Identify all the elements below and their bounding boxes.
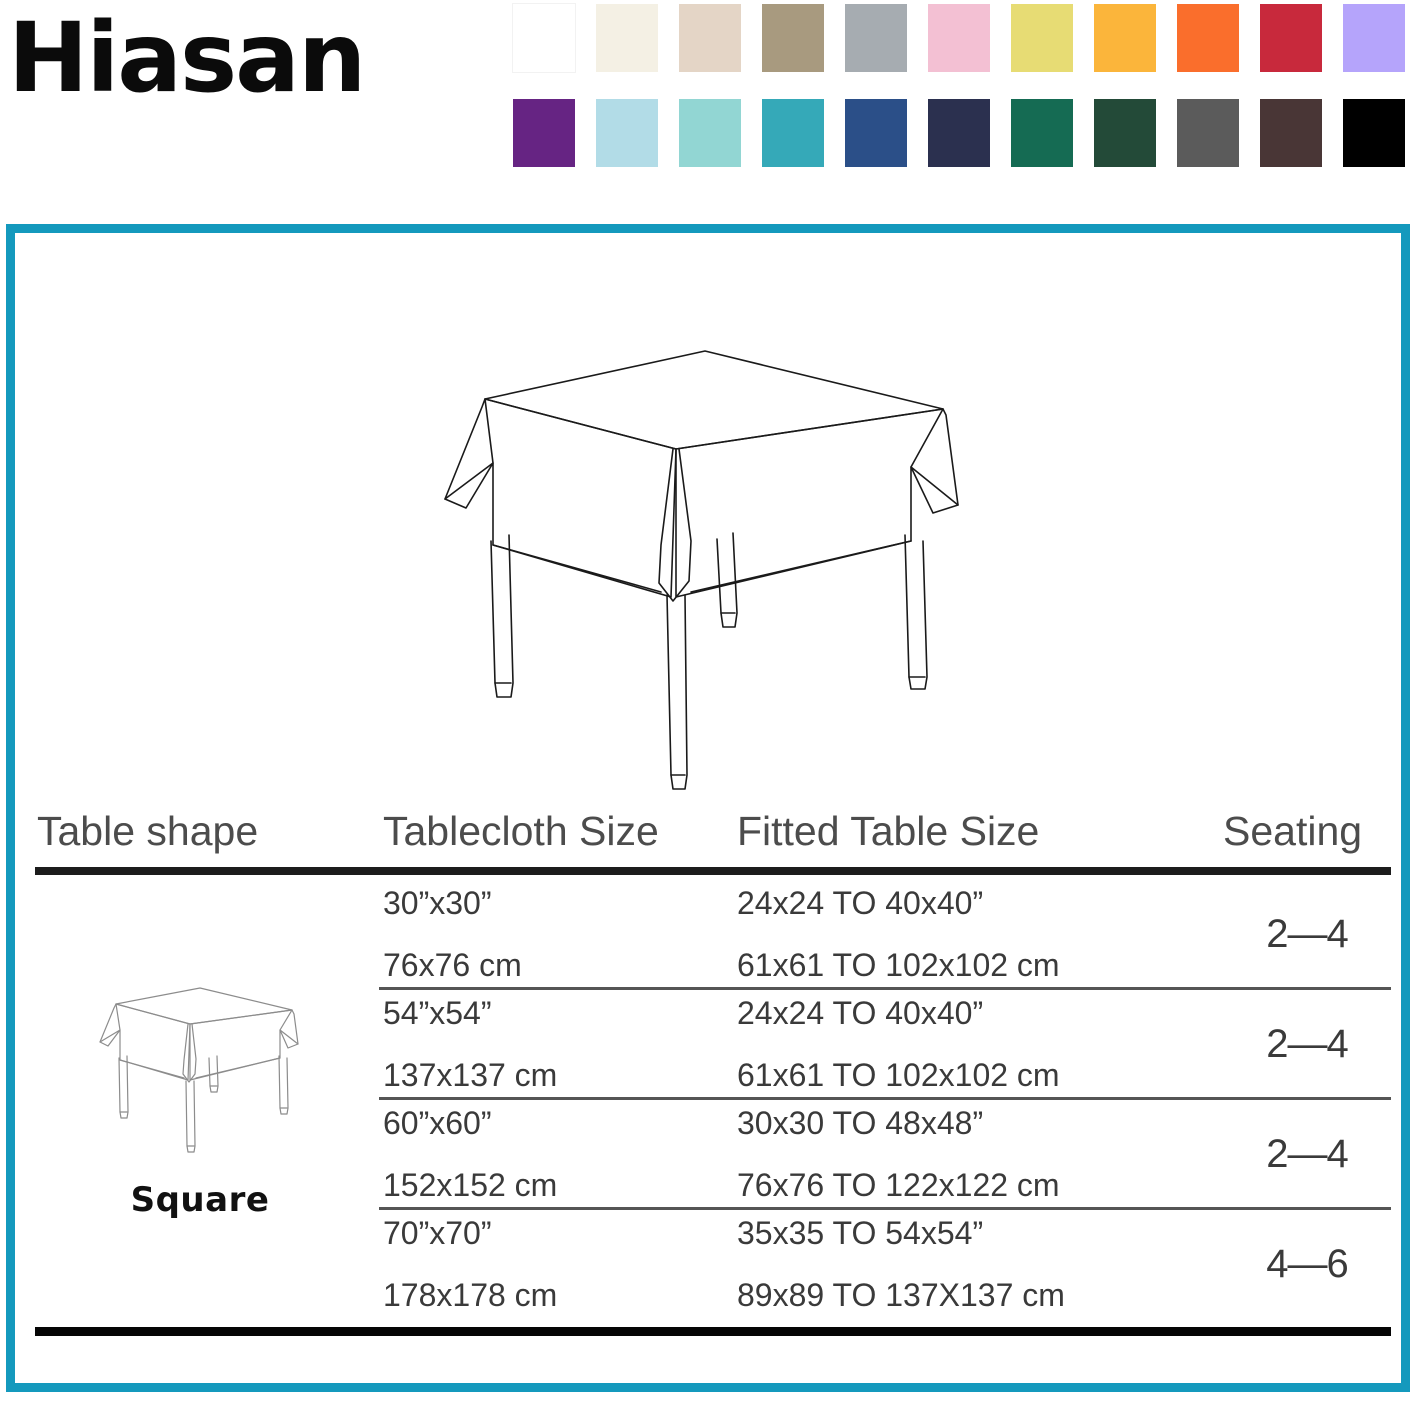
cell-seating: 4—6 — [1207, 1209, 1407, 1319]
square-table-illustration — [433, 345, 978, 805]
swatch-dark-brown[interactable] — [1260, 99, 1322, 167]
fitted-size-cm: 61x61 TO 102x102 cm — [737, 949, 1207, 983]
swatch-emerald[interactable] — [1011, 99, 1073, 167]
swatch-lavender[interactable] — [1343, 4, 1405, 72]
table-row: 70”x70” 178x178 cm 35x35 TO 54x54” 89x89… — [15, 1209, 1401, 1319]
swatch-aqua[interactable] — [679, 99, 741, 167]
header-fitted-table-size: Fitted Table Size — [737, 811, 1039, 852]
table-row: 30”x30” 76x76 cm 24x24 TO 40x40” 61x61 T… — [15, 879, 1401, 989]
table-row: 54”x54” 137x137 cm 24x24 TO 40x40” 61x61… — [15, 989, 1401, 1099]
swatch-row-1 — [513, 4, 1413, 72]
size-specification-table: Table shape Tablecloth Size Fitted Table… — [15, 803, 1401, 1343]
cell-tablecloth-size: 60”x60” 152x152 cm — [383, 1107, 733, 1203]
fitted-size-cm: 61x61 TO 102x102 cm — [737, 1059, 1207, 1093]
swatch-white[interactable] — [513, 4, 575, 72]
cell-tablecloth-size: 54”x54” 137x137 cm — [383, 997, 733, 1093]
swatch-orange[interactable] — [1177, 4, 1239, 72]
swatch-taupe[interactable] — [762, 4, 824, 72]
fitted-size-inches: 35x35 TO 54x54” — [737, 1217, 1207, 1251]
product-spec-page: Hiasan — [0, 0, 1417, 1402]
cell-tablecloth-size: 70”x70” 178x178 cm — [383, 1217, 733, 1313]
fitted-size-cm: 89x89 TO 137X137 cm — [737, 1279, 1207, 1313]
swatch-purple[interactable] — [513, 99, 575, 167]
swatch-red[interactable] — [1260, 4, 1322, 72]
fitted-size-cm: 76x76 TO 122x122 cm — [737, 1169, 1207, 1203]
swatch-navy[interactable] — [928, 99, 990, 167]
swatch-gray[interactable] — [845, 4, 907, 72]
cell-seating: 2—4 — [1207, 1099, 1407, 1209]
spec-card: Table shape Tablecloth Size Fitted Table… — [6, 224, 1410, 1392]
cell-fitted-table-size: 30x30 TO 48x48” 76x76 TO 122x122 cm — [737, 1107, 1207, 1203]
header-tablecloth-size: Tablecloth Size — [383, 811, 659, 852]
swatch-forest-green[interactable] — [1094, 99, 1156, 167]
cell-seating: 2—4 — [1207, 879, 1407, 989]
cell-fitted-table-size: 24x24 TO 40x40” 61x61 TO 102x102 cm — [737, 887, 1207, 983]
swatch-teal[interactable] — [762, 99, 824, 167]
cloth-size-cm: 178x178 cm — [383, 1279, 733, 1313]
fitted-size-inches: 24x24 TO 40x40” — [737, 887, 1207, 921]
fitted-size-inches: 24x24 TO 40x40” — [737, 997, 1207, 1031]
cell-fitted-table-size: 35x35 TO 54x54” 89x89 TO 137X137 cm — [737, 1217, 1207, 1313]
cloth-size-inches: 54”x54” — [383, 997, 733, 1031]
header-divider — [35, 867, 1391, 875]
swatch-ivory[interactable] — [596, 4, 658, 72]
brand-logo: Hiasan — [8, 10, 364, 106]
swatch-steel-blue[interactable] — [845, 99, 907, 167]
table-bottom-divider — [35, 1327, 1391, 1336]
swatch-row-2 — [513, 99, 1413, 167]
cell-tablecloth-size: 30”x30” 76x76 cm — [383, 887, 733, 983]
cell-seating: 2—4 — [1207, 989, 1407, 1099]
header-seating: Seating — [1223, 811, 1362, 852]
swatch-amber[interactable] — [1094, 4, 1156, 72]
cloth-size-inches: 70”x70” — [383, 1217, 733, 1251]
swatch-light-blue[interactable] — [596, 99, 658, 167]
cloth-size-inches: 30”x30” — [383, 887, 733, 921]
swatch-black[interactable] — [1343, 99, 1405, 167]
fitted-size-inches: 30x30 TO 48x48” — [737, 1107, 1207, 1141]
swatch-beige[interactable] — [679, 4, 741, 72]
header-table-shape: Table shape — [37, 811, 258, 852]
cell-fitted-table-size: 24x24 TO 40x40” 61x61 TO 102x102 cm — [737, 997, 1207, 1093]
cloth-size-cm: 137x137 cm — [383, 1059, 733, 1093]
swatch-pink[interactable] — [928, 4, 990, 72]
swatch-dark-gray[interactable] — [1177, 99, 1239, 167]
table-row: 60”x60” 152x152 cm 30x30 TO 48x48” 76x76… — [15, 1099, 1401, 1209]
color-swatch-palette — [513, 4, 1413, 170]
swatch-yellow[interactable] — [1011, 4, 1073, 72]
cloth-size-inches: 60”x60” — [383, 1107, 733, 1141]
cloth-size-cm: 152x152 cm — [383, 1169, 733, 1203]
cloth-size-cm: 76x76 cm — [383, 949, 733, 983]
table-header-row: Table shape Tablecloth Size Fitted Table… — [15, 803, 1401, 875]
